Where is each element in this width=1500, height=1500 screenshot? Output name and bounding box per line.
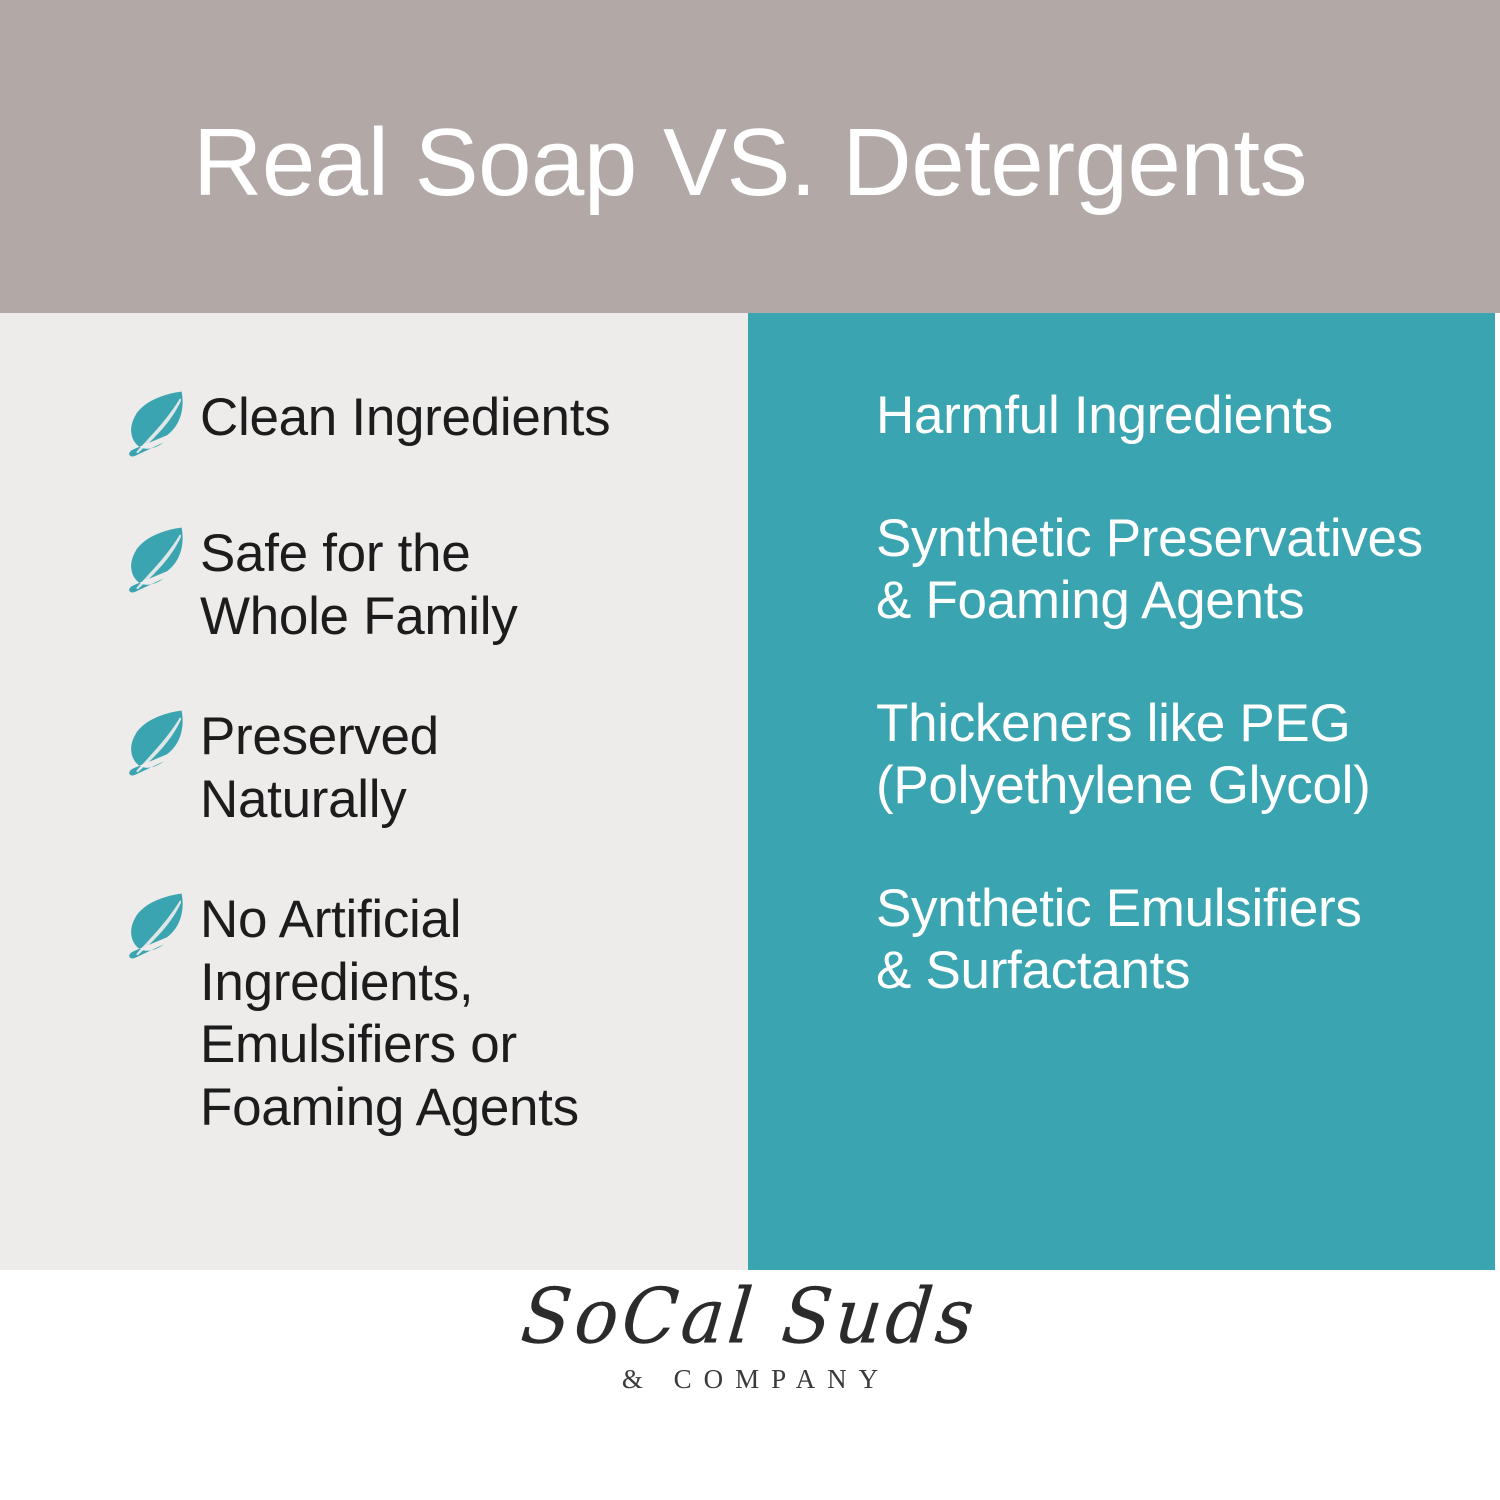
real-soap-list: Clean Ingredients Safe for the Whole Fam…	[118, 385, 718, 1139]
list-item: Thickeners like PEG (Polyethylene Glycol…	[876, 693, 1456, 818]
footer: SoCal Suds & COMPANY	[0, 1270, 1500, 1500]
list-item: Safe for the Whole Family	[118, 521, 718, 648]
list-item: Synthetic Preservatives & Foaming Agents	[876, 508, 1456, 633]
brand-logo-subtitle: & COMPANY	[610, 1366, 890, 1393]
page-title: Real Soap VS. Detergents	[0, 0, 1500, 313]
infographic-canvas: Real Soap VS. Detergents Clean Ingredien…	[0, 0, 1500, 1500]
leaf-icon	[118, 889, 200, 967]
list-item: No Artificial Ingredients, Emulsifiers o…	[118, 887, 718, 1139]
leaf-icon	[118, 706, 200, 784]
list-item-label: Preserved Naturally	[200, 704, 718, 831]
panel-real-soap: Clean Ingredients Safe for the Whole Fam…	[0, 313, 748, 1270]
panel-detergents: Harmful Ingredients Synthetic Preservati…	[748, 313, 1495, 1270]
list-item: Preserved Naturally	[118, 704, 718, 831]
comparison-panels: Clean Ingredients Safe for the Whole Fam…	[0, 313, 1500, 1270]
list-item-label: Clean Ingredients	[200, 385, 718, 450]
list-item: Synthetic Emulsifiers & Surfactants	[876, 878, 1456, 1003]
list-item: Harmful Ingredients	[876, 385, 1456, 448]
list-item-label: No Artificial Ingredients, Emulsifiers o…	[200, 887, 718, 1139]
list-item: Clean Ingredients	[118, 385, 718, 465]
list-item-label: Safe for the Whole Family	[200, 521, 718, 648]
detergents-list: Harmful Ingredients Synthetic Preservati…	[876, 385, 1456, 1003]
leaf-icon	[118, 523, 200, 601]
brand-logo-script: SoCal Suds	[518, 1278, 981, 1354]
leaf-icon	[118, 387, 200, 465]
